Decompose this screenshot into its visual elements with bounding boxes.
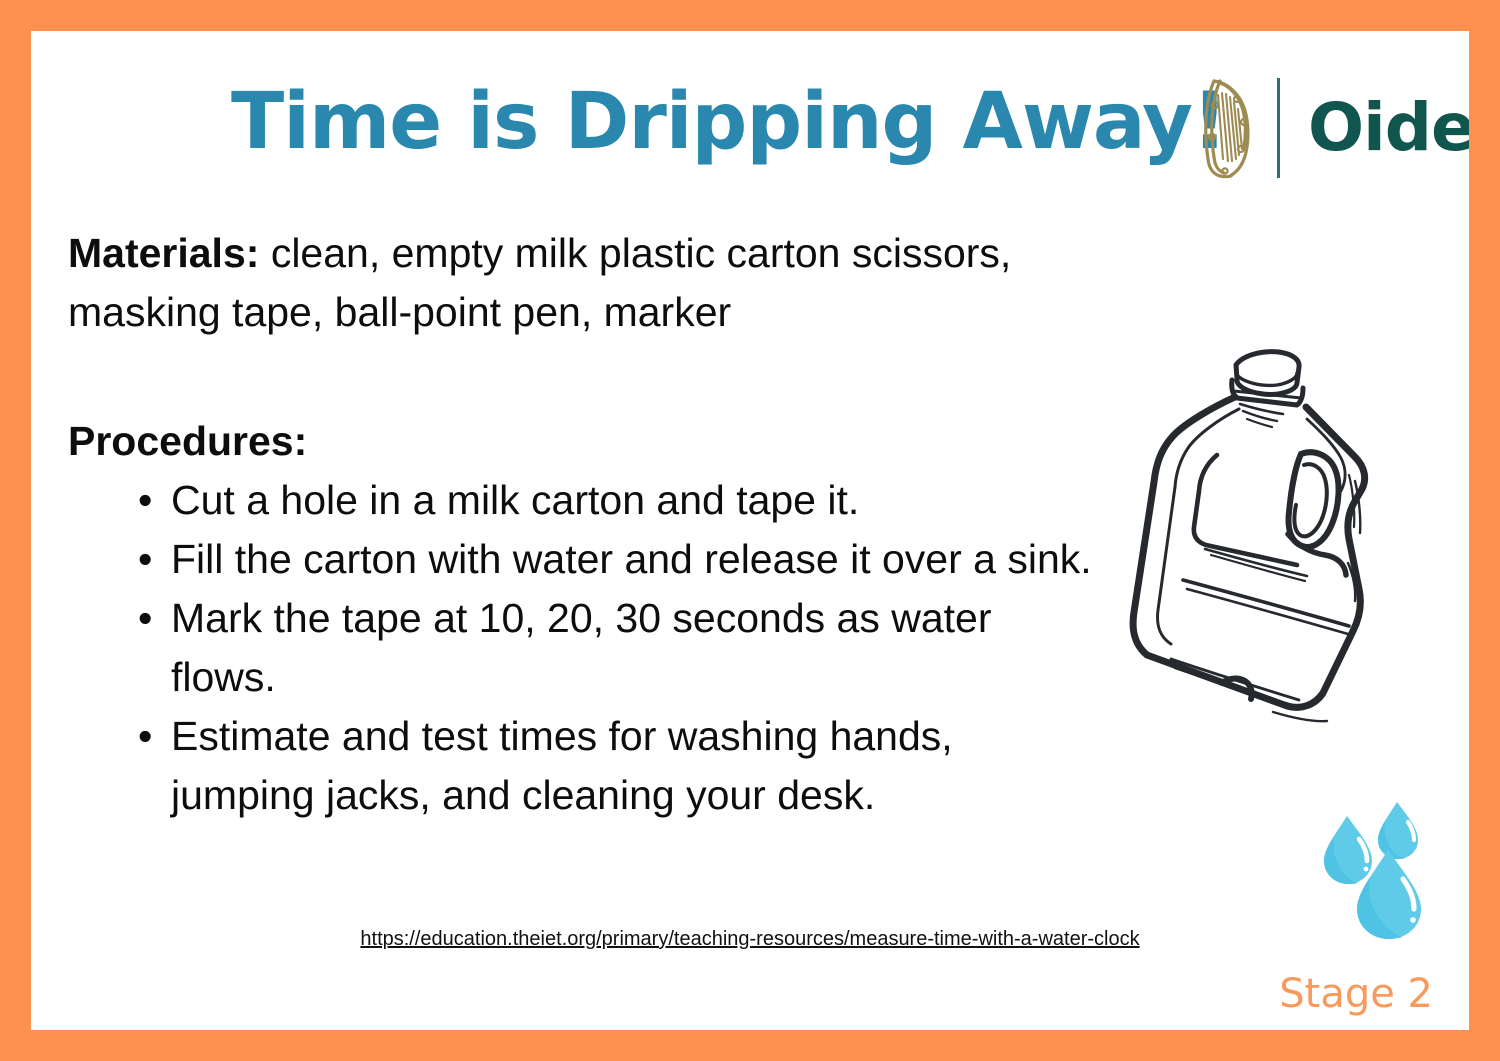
- page-title: Time is Dripping Away!: [231, 76, 1211, 168]
- source-url-link[interactable]: https://education.theiet.org/primary/tea…: [31, 926, 1469, 952]
- list-item-text: Mark the tape at 10, 20, 30 seconds as w…: [171, 595, 991, 700]
- oide-logo: Oide: [1199, 69, 1469, 187]
- bullet-icon: •: [138, 471, 152, 530]
- bullet-icon: •: [138, 589, 152, 648]
- bullet-icon: •: [138, 530, 152, 589]
- list-item: • Fill the carton with water and release…: [68, 530, 1098, 589]
- list-item-text: Estimate and test times for washing hand…: [171, 713, 953, 818]
- irish-harp-icon: [1199, 75, 1255, 181]
- procedures-list: • Cut a hole in a milk carton and tape i…: [68, 471, 1098, 825]
- materials-block: Materials: clean, empty milk plastic car…: [68, 224, 1048, 342]
- bullet-icon: •: [138, 707, 152, 766]
- list-item: • Estimate and test times for washing ha…: [68, 707, 1098, 825]
- materials-label: Materials:: [68, 230, 259, 276]
- list-item-text: Fill the carton with water and release i…: [171, 536, 1092, 582]
- list-item-text: Cut a hole in a milk carton and tape it.: [171, 477, 859, 523]
- water-drops-illustration: [1319, 796, 1439, 941]
- list-item: • Mark the tape at 10, 20, 30 seconds as…: [68, 589, 1098, 707]
- logo-divider: [1277, 78, 1280, 178]
- list-item: • Cut a hole in a milk carton and tape i…: [68, 471, 1098, 530]
- activity-card: Time is Dripping Away!: [0, 0, 1500, 1061]
- oide-wordmark: Oide: [1308, 93, 1469, 163]
- stage-badge: Stage 2: [1279, 969, 1433, 1019]
- milk-jug-illustration: [1101, 331, 1441, 731]
- card-inner-surface: Time is Dripping Away!: [31, 31, 1469, 1030]
- procedures-label: Procedures:: [68, 416, 307, 466]
